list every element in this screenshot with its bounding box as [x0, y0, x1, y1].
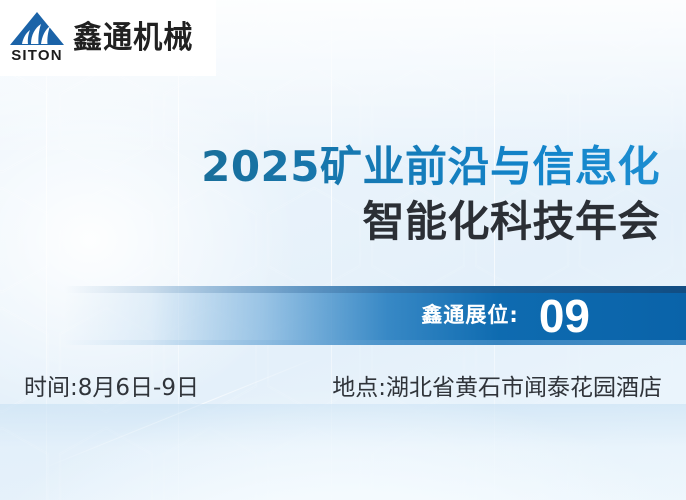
event-time: 时间:8月6日-9日 [24, 368, 199, 402]
event-place: 地点:湖北省黄石市闻泰花园酒店 [332, 368, 662, 402]
brand-english-name: SITON [11, 48, 63, 63]
conference-poster: SITON 鑫通机械 2025矿业前沿与信息化 智能化科技年会 鑫通展位: 09… [0, 0, 686, 500]
title-line-1: 2025矿业前沿与信息化 [0, 142, 660, 192]
background-bottom-cloud [0, 320, 686, 500]
brand-logo-plate: SITON 鑫通机械 [0, 0, 216, 76]
mountain-logo-icon: SITON [8, 11, 66, 65]
booth-banner: 鑫通展位: 09 [64, 286, 686, 345]
poster-title: 2025矿业前沿与信息化 智能化科技年会 [0, 142, 660, 248]
event-info-row: 时间:8月6日-9日 地点:湖北省黄石市闻泰花园酒店 [24, 368, 662, 402]
booth-number: 09 [539, 293, 590, 339]
title-line-2: 智能化科技年会 [0, 196, 660, 248]
booth-label: 鑫通展位: [421, 305, 518, 326]
brand-chinese-name: 鑫通机械 [73, 23, 193, 54]
